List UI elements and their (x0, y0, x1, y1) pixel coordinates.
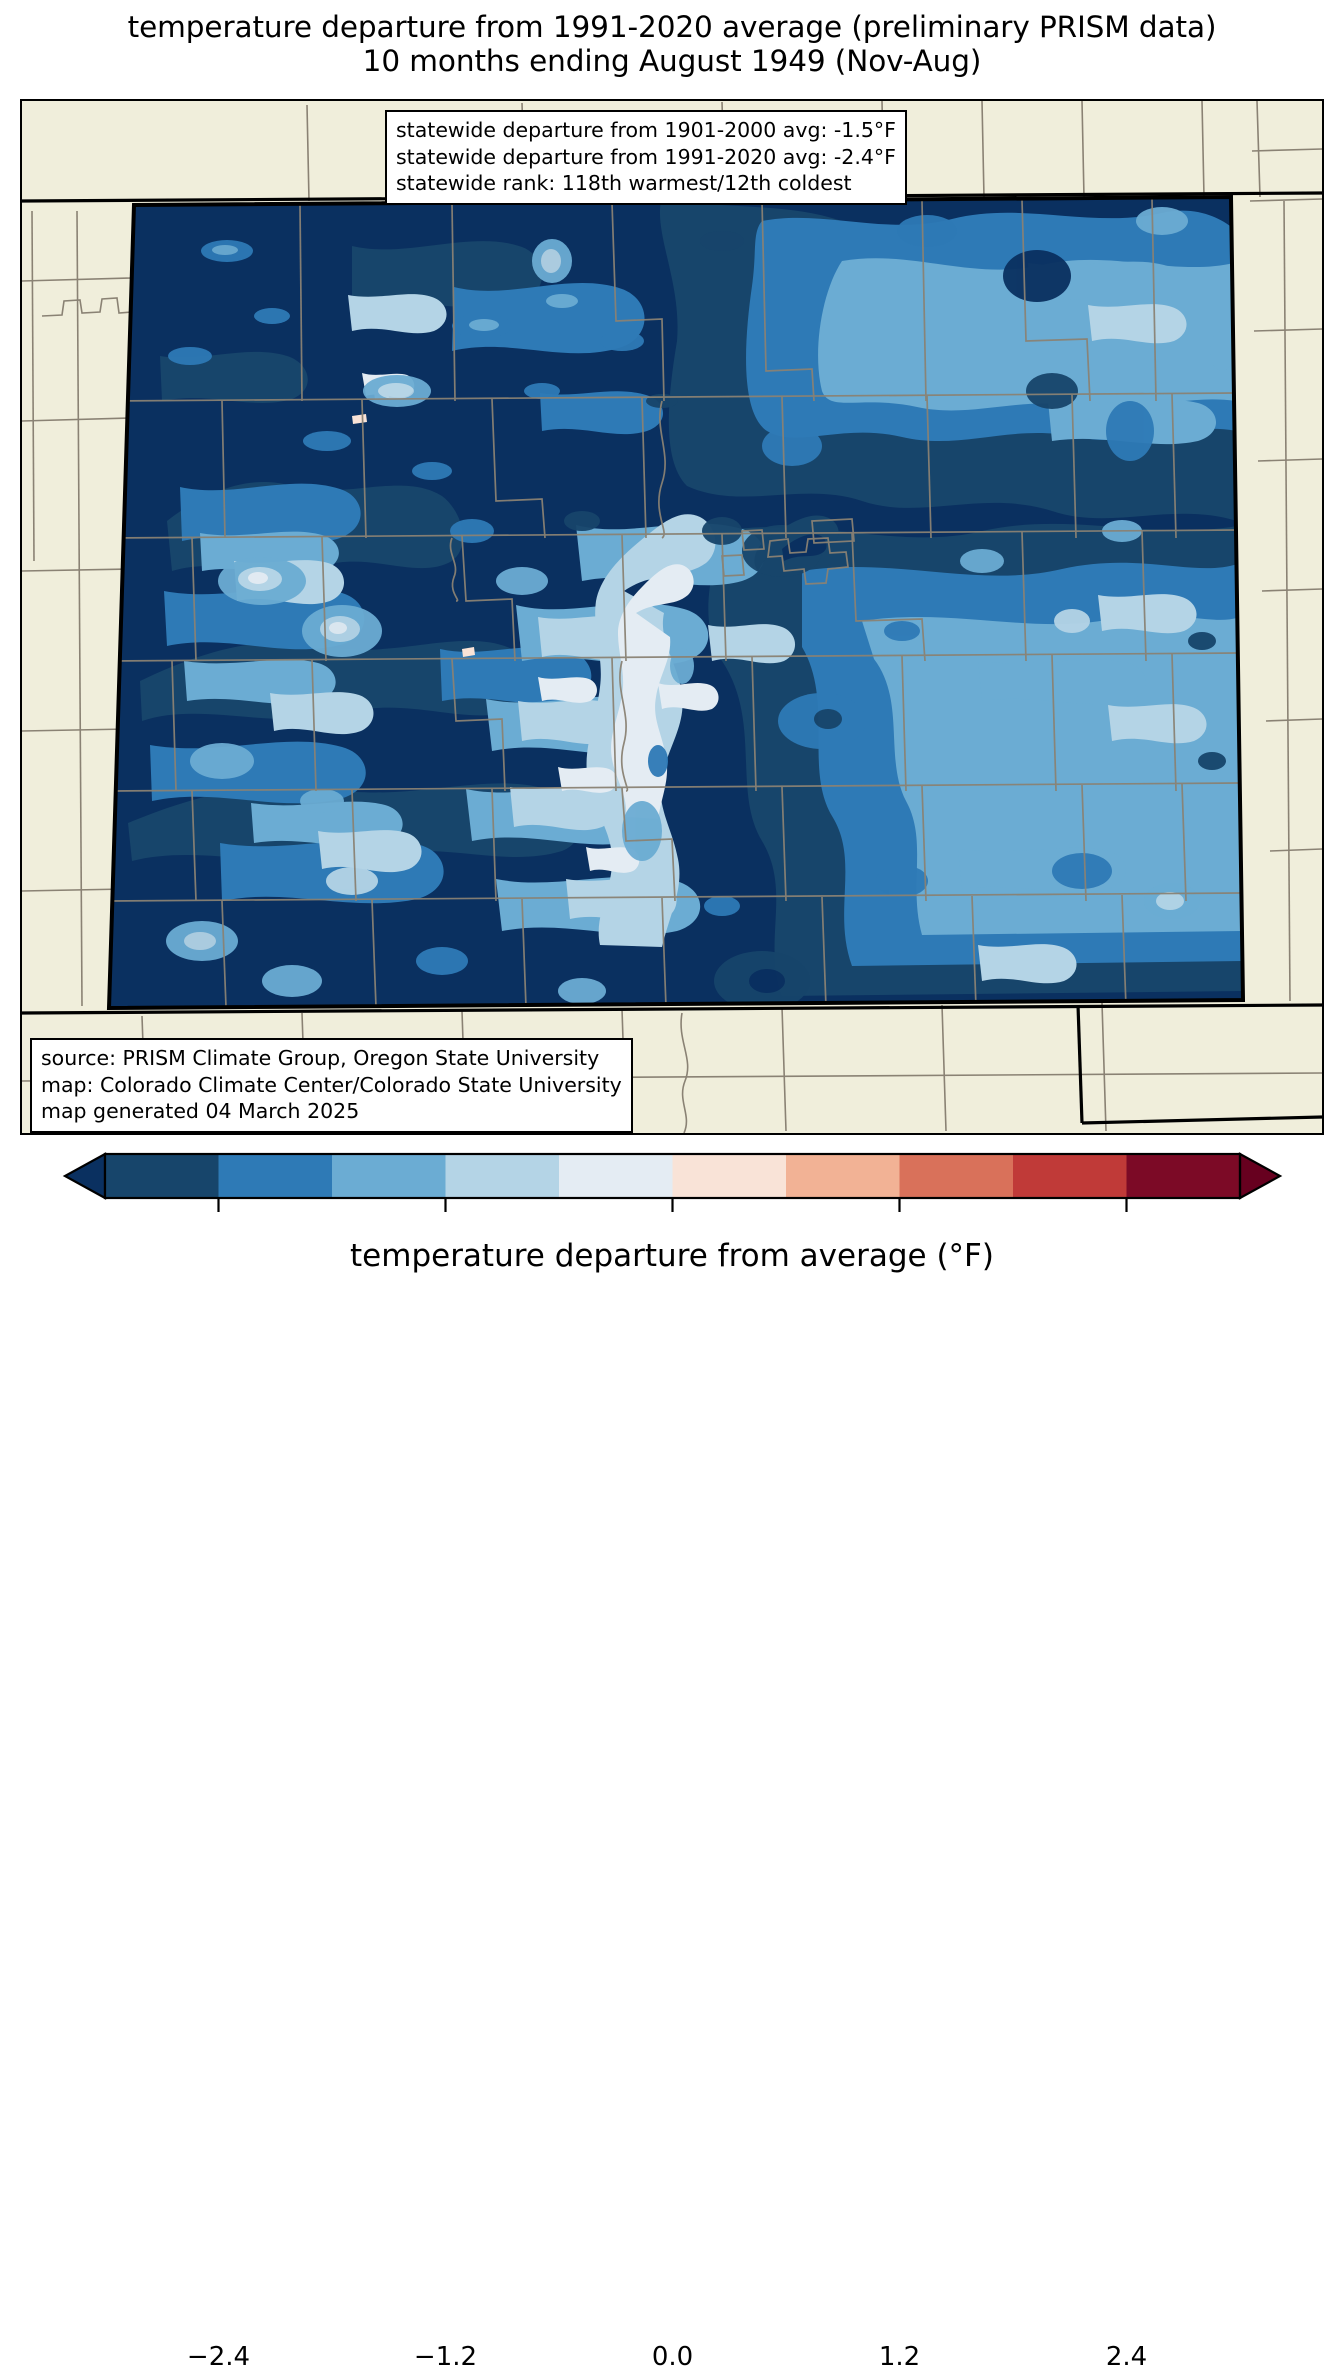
colorbar-tick-label: −2.4 (187, 2342, 250, 2372)
colorbar-band (332, 1154, 446, 1198)
stats-line-1: statewide departure from 1901-2000 avg: … (396, 117, 896, 144)
colorbar-tick-label: 0.0 (652, 2342, 693, 2372)
colorbar-band (1013, 1154, 1127, 1198)
title-line-1: temperature departure from 1991-2020 ave… (0, 10, 1344, 44)
colorbar-band (559, 1154, 673, 1198)
colorbar-band (219, 1154, 333, 1198)
stats-line-3: statewide rank: 118th warmest/12th colde… (396, 170, 896, 197)
stats-line-2: statewide departure from 1991-2020 avg: … (396, 144, 896, 171)
colorbar-tick-label: 1.2 (879, 2342, 920, 2372)
source-line-3: map generated 04 March 2025 (41, 1098, 622, 1125)
colorbar-tick-label: −1.2 (414, 2342, 477, 2372)
colorbar: −2.4−1.20.01.22.4 (0, 1146, 1344, 1299)
colorbar-over-arrow (1240, 1154, 1280, 1198)
colorbar-band (446, 1154, 560, 1198)
map-panel (20, 99, 1324, 1135)
colorbar-band (1127, 1154, 1241, 1198)
source-line-2: map: Colorado Climate Center/Colorado St… (41, 1072, 622, 1099)
colorbar-band (900, 1154, 1014, 1198)
colorbar-under-arrow (65, 1154, 105, 1198)
page-title: temperature departure from 1991-2020 ave… (0, 10, 1344, 78)
title-line-2: 10 months ending August 1949 (Nov-Aug) (0, 44, 1344, 78)
colorbar-band (105, 1154, 219, 1198)
source-line-1: source: PRISM Climate Group, Oregon Stat… (41, 1045, 622, 1072)
colorbar-band-group (65, 1154, 1280, 1198)
colorbar-tick-labels: −2.4−1.20.01.22.4 (0, 2342, 1344, 2376)
colorbar-tick-label: 2.4 (1106, 2342, 1147, 2372)
statewide-stats-box: statewide departure from 1901-2000 avg: … (385, 110, 907, 205)
colorbar-tick-group (219, 1198, 1127, 1212)
colorado-temperature-anomaly-map (22, 101, 1322, 1133)
colorbar-axis-label: temperature departure from average (°F) (0, 1238, 1344, 1274)
source-attribution-box: source: PRISM Climate Group, Oregon Stat… (30, 1038, 633, 1133)
temperature-contour-fill (102, 191, 1252, 1016)
colorbar-band (673, 1154, 787, 1198)
colorbar-band (786, 1154, 900, 1198)
